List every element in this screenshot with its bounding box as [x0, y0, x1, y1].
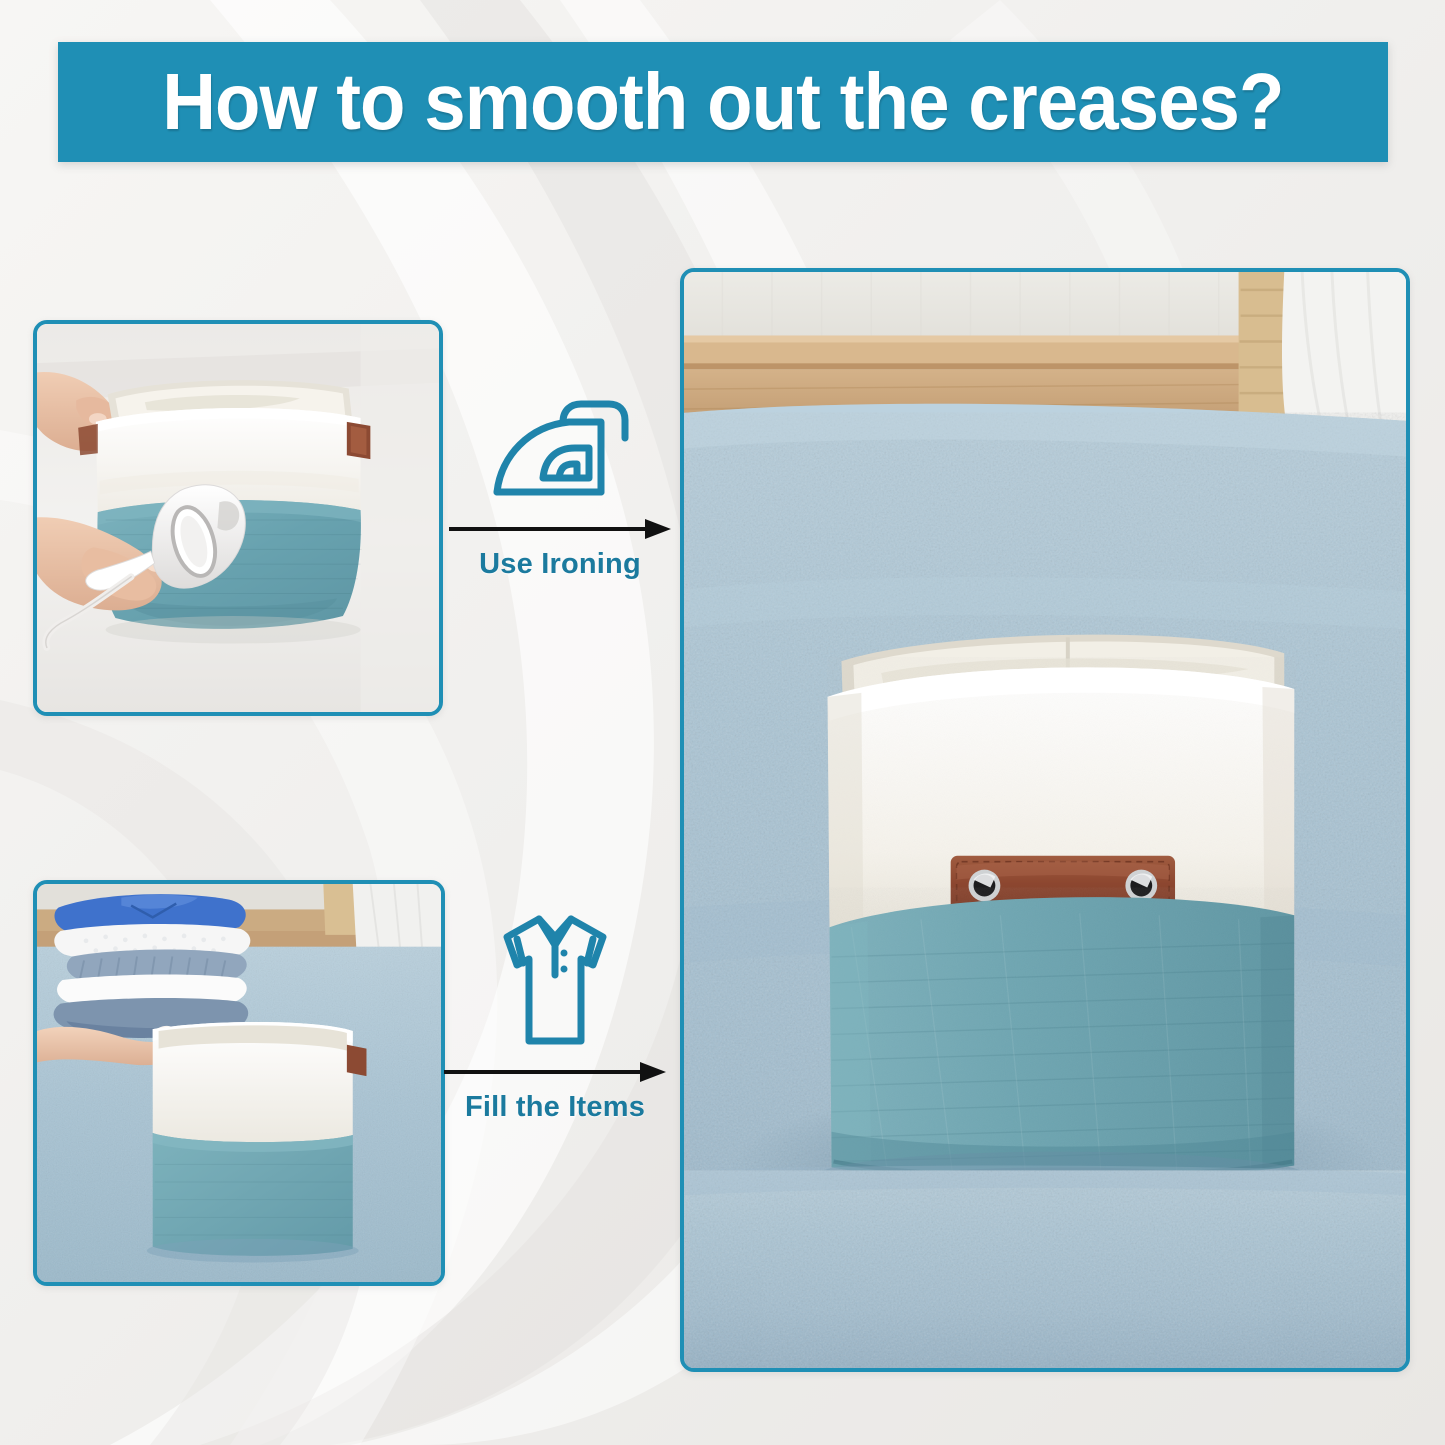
- step-label-fill-the-items: Fill the Items: [465, 1091, 645, 1124]
- photo-steaming-basket: [37, 324, 439, 712]
- photo-panel-ironing: [33, 320, 443, 716]
- step-use-ironing: Use Ironing: [445, 392, 675, 581]
- clothes-iron-icon: [485, 392, 635, 512]
- step-label-use-ironing: Use Ironing: [479, 548, 641, 581]
- arrow-right-icon: [444, 1061, 666, 1083]
- page-title: How to smooth out the creases?: [162, 56, 1283, 148]
- photo-panel-fill: [33, 880, 445, 1286]
- photo-folded-clothes-and-basket: [37, 884, 441, 1282]
- polo-shirt-icon: [485, 905, 625, 1055]
- photo-basket-on-rug: [684, 272, 1406, 1368]
- photo-panel-main: [680, 268, 1410, 1372]
- step-fill-the-items: Fill the Items: [440, 905, 670, 1124]
- arrow-right-icon: [449, 518, 671, 540]
- page-title-banner: How to smooth out the creases?: [58, 42, 1388, 162]
